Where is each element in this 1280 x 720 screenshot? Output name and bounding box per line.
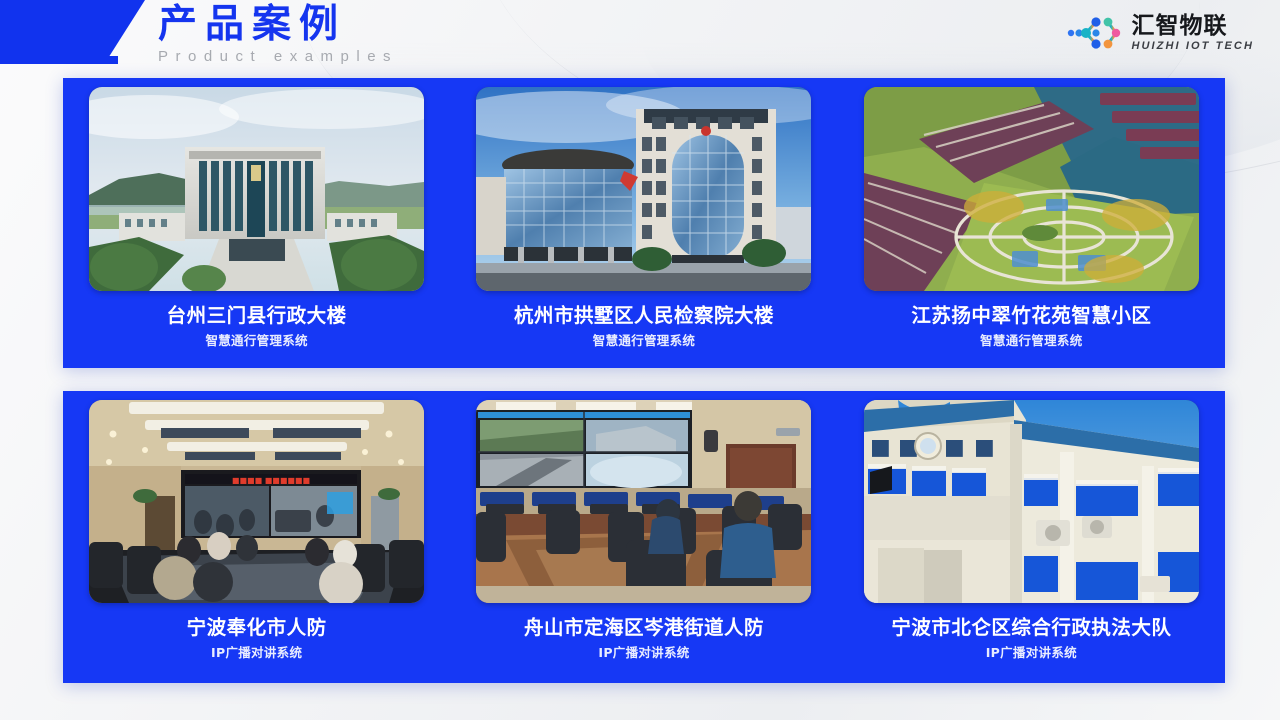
case-card[interactable]: 台州三门县行政大楼 智慧通行管理系统 [63,78,450,368]
case-subtitle: IP广播对讲系统 [598,645,689,661]
svg-text:■: ■ [974,435,995,460]
case-card[interactable]: 舟山市定海区岑港街道人防 IP广播对讲系统 [450,391,837,683]
control-room-video-wall-photo [476,400,811,603]
case-title: 台州三门县行政大楼 [167,304,347,328]
conference-room-display-photo: ■■■■ ■■■■■■ [89,400,424,603]
header-accent-bar [0,0,145,64]
svg-text:■: ■ [944,435,965,460]
svg-text:■■■■ ■■■■■■: ■■■■ ■■■■■■ [232,476,310,485]
case-subtitle: 智慧通行管理系统 [205,333,307,349]
case-title: 宁波市北仑区综合行政执法大队 [891,616,1171,640]
law-enforcement-building-photo: ■■■■ [864,400,1199,603]
case-title: 舟山市定海区岑港街道人防 [524,616,764,640]
case-panel-row-1: 台州三门县行政大楼 智慧通行管理系统 [63,78,1225,368]
aerial-residential-community-photo [864,87,1199,291]
brand-name-en: HUIZHI IOT TECH [1131,39,1254,53]
page-title-en: Product examples [158,47,398,67]
case-card[interactable]: 江苏扬中翠竹花苑智慧小区 智慧通行管理系统 [838,78,1225,368]
svg-text:■: ■ [870,435,891,460]
molecule-network-icon [1067,13,1123,53]
case-subtitle: IP广播对讲系统 [986,645,1077,661]
case-subtitle: IP广播对讲系统 [211,645,302,661]
slide-root: 产品案例 Product examples [0,0,1280,720]
case-title: 杭州市拱墅区人民检察院大楼 [514,304,774,328]
case-card[interactable]: 杭州市拱墅区人民检察院大楼 智慧通行管理系统 [450,78,837,368]
page-title-cn: 产品案例 [158,2,398,48]
page-title: 产品案例 Product examples [158,2,398,67]
slide-header: 产品案例 Product examples [0,0,1280,72]
case-subtitle: 智慧通行管理系统 [593,333,695,349]
brand-name-cn: 汇智物联 [1131,14,1254,39]
case-panel-row-2: ■■■■ ■■■■■■ [63,391,1225,683]
procuratorate-building-photo [476,87,811,291]
case-card[interactable]: ■■■■ ■■■■■■ [63,391,450,683]
government-building-photo [89,87,424,291]
case-title: 宁波奉化市人防 [187,616,327,640]
brand-logo: 汇智物联 HUIZHI IOT TECH [1067,13,1254,53]
brand-logo-text: 汇智物联 HUIZHI IOT TECH [1131,14,1254,53]
case-card[interactable]: ■■■■ [838,391,1225,683]
case-title: 江苏扬中翠竹花苑智慧小区 [911,304,1151,328]
header-accent-underline [0,56,118,64]
case-subtitle: 智慧通行管理系统 [980,333,1082,349]
